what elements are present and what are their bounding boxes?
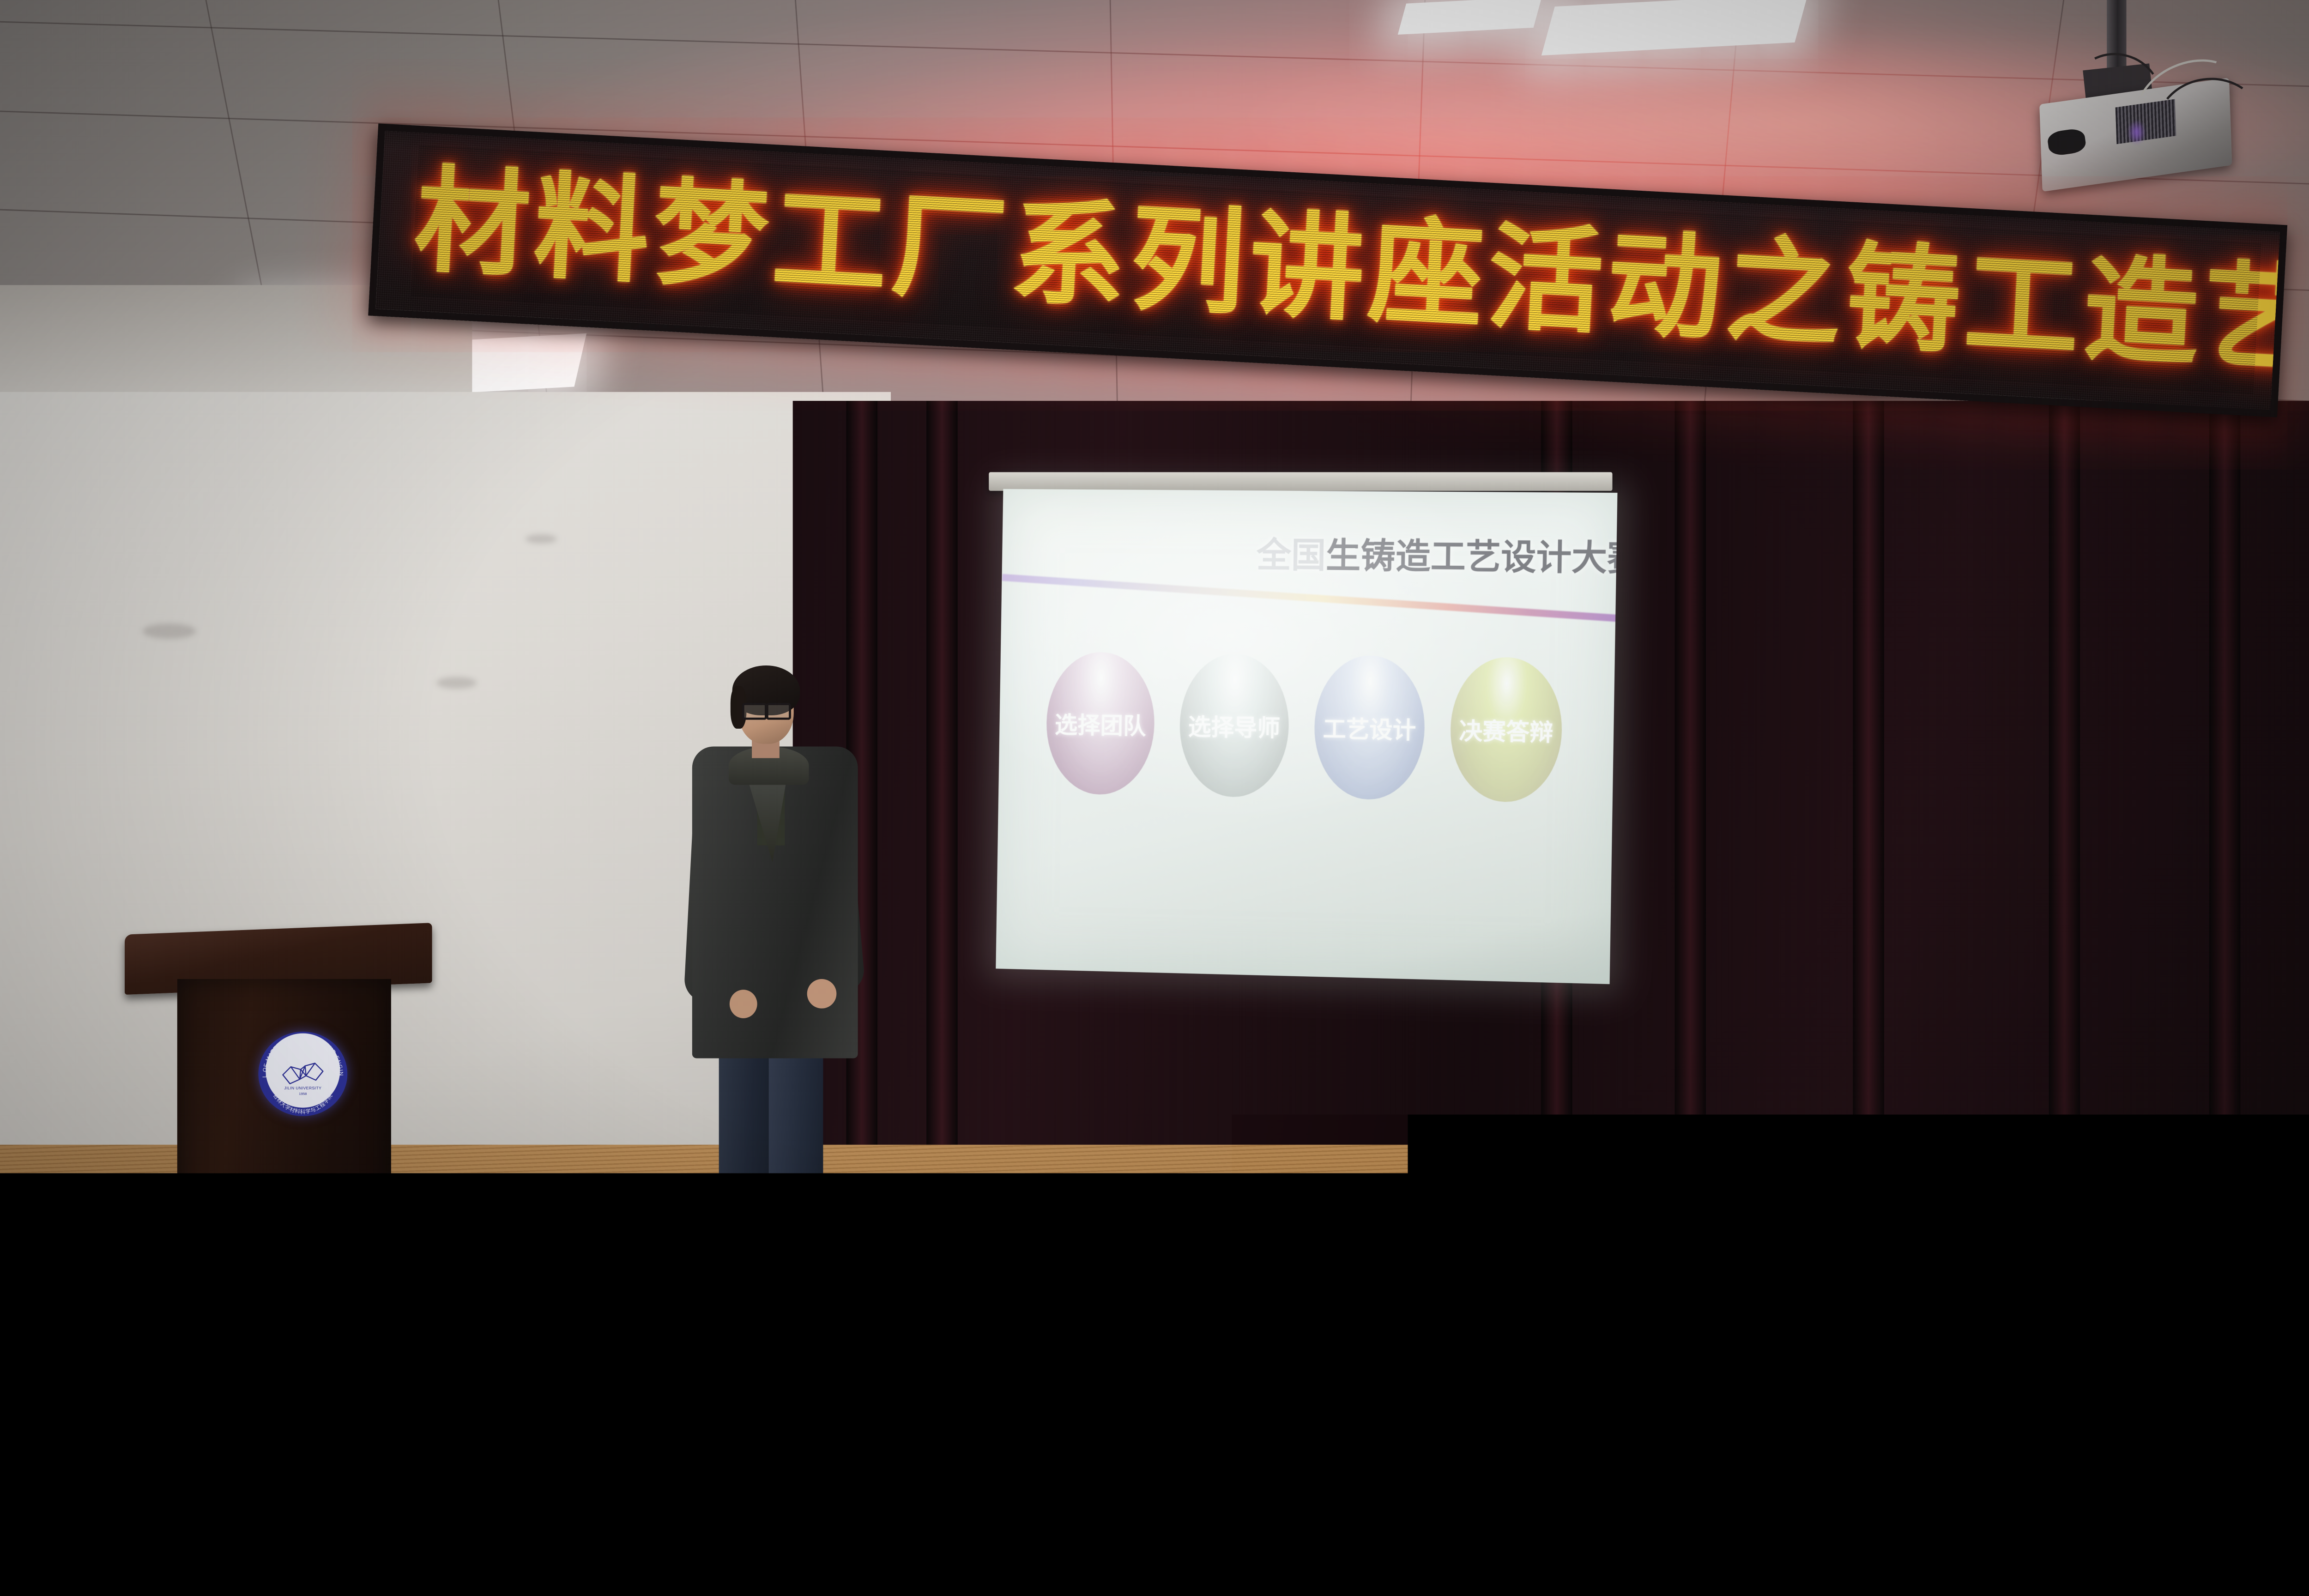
bottle-label-text: 大冰泉 <box>1586 1217 1612 1227</box>
presenter-right-hand <box>807 979 837 1009</box>
projection-screen-housing <box>989 472 1612 491</box>
ceiling-projector <box>2022 0 2307 174</box>
name-placard[interactable]: 徐飞 <box>2182 1188 2267 1237</box>
presenter <box>664 659 913 1292</box>
chair-backrest-highlight <box>1816 1323 2136 1336</box>
placard-card: 王金国 <box>1934 1211 2017 1249</box>
svg-text:吉林大学材料科学与工程学院: 吉林大学材料科学与工程学院 <box>272 1093 334 1115</box>
placard-reflection <box>1647 1270 1736 1306</box>
chair-backrest-highlight <box>1251 1356 1561 1370</box>
water-bottle[interactable]: 大冰泉 <box>1585 1154 1613 1256</box>
chair-backrest-highlight <box>925 1334 1227 1348</box>
placard-card: 荣建 <box>1649 1225 1732 1263</box>
chair[interactable] <box>1243 1352 1572 1539</box>
placard-name: 徐飞 <box>2188 1197 2262 1225</box>
emblem-year-label: 1958 <box>258 1092 347 1096</box>
placard-name: 王金国 <box>1934 1217 2017 1242</box>
chair[interactable] <box>1808 1318 2147 1539</box>
projector-hotspot-glare <box>996 489 1617 984</box>
placard-name: 荣建 <box>1649 1230 1732 1258</box>
name-placard[interactable]: 王金国 <box>1928 1206 2023 1256</box>
bottle-label: 大冰泉 <box>1586 1216 1612 1246</box>
presenter-glasses-icon <box>742 703 791 716</box>
chair[interactable] <box>918 1330 1238 1539</box>
projection-screen: 全国生铸造工艺设计大赛 选择团队 选择导师 工艺设计 决赛答辩 <box>996 489 1617 984</box>
lecture-hall-scene: 全国生铸造工艺设计大赛 选择团队 选择导师 工艺设计 决赛答辩 材料梦工厂系列讲… <box>0 0 2309 1539</box>
podium-base-tier-3 <box>133 1286 436 1300</box>
hall-floor <box>0 1341 784 1539</box>
placard-card: 徐飞 <box>2188 1192 2262 1230</box>
podium-front-panel <box>177 979 391 1255</box>
placard-reflection <box>1932 1256 2020 1292</box>
school-emblem: SCHOOL OF MATERIALS SCIENCE AND ENGINEER… <box>258 1032 347 1116</box>
emblem-university-label: JILIN UNIVERSITY <box>258 1086 347 1090</box>
name-placard[interactable]: 荣建 <box>1643 1220 1738 1270</box>
placard-reflection <box>2186 1238 2266 1273</box>
presenter-left-hand <box>730 990 757 1018</box>
podium: SCHOOL OF MATERIALS SCIENCE AND ENGINEER… <box>125 904 436 1305</box>
